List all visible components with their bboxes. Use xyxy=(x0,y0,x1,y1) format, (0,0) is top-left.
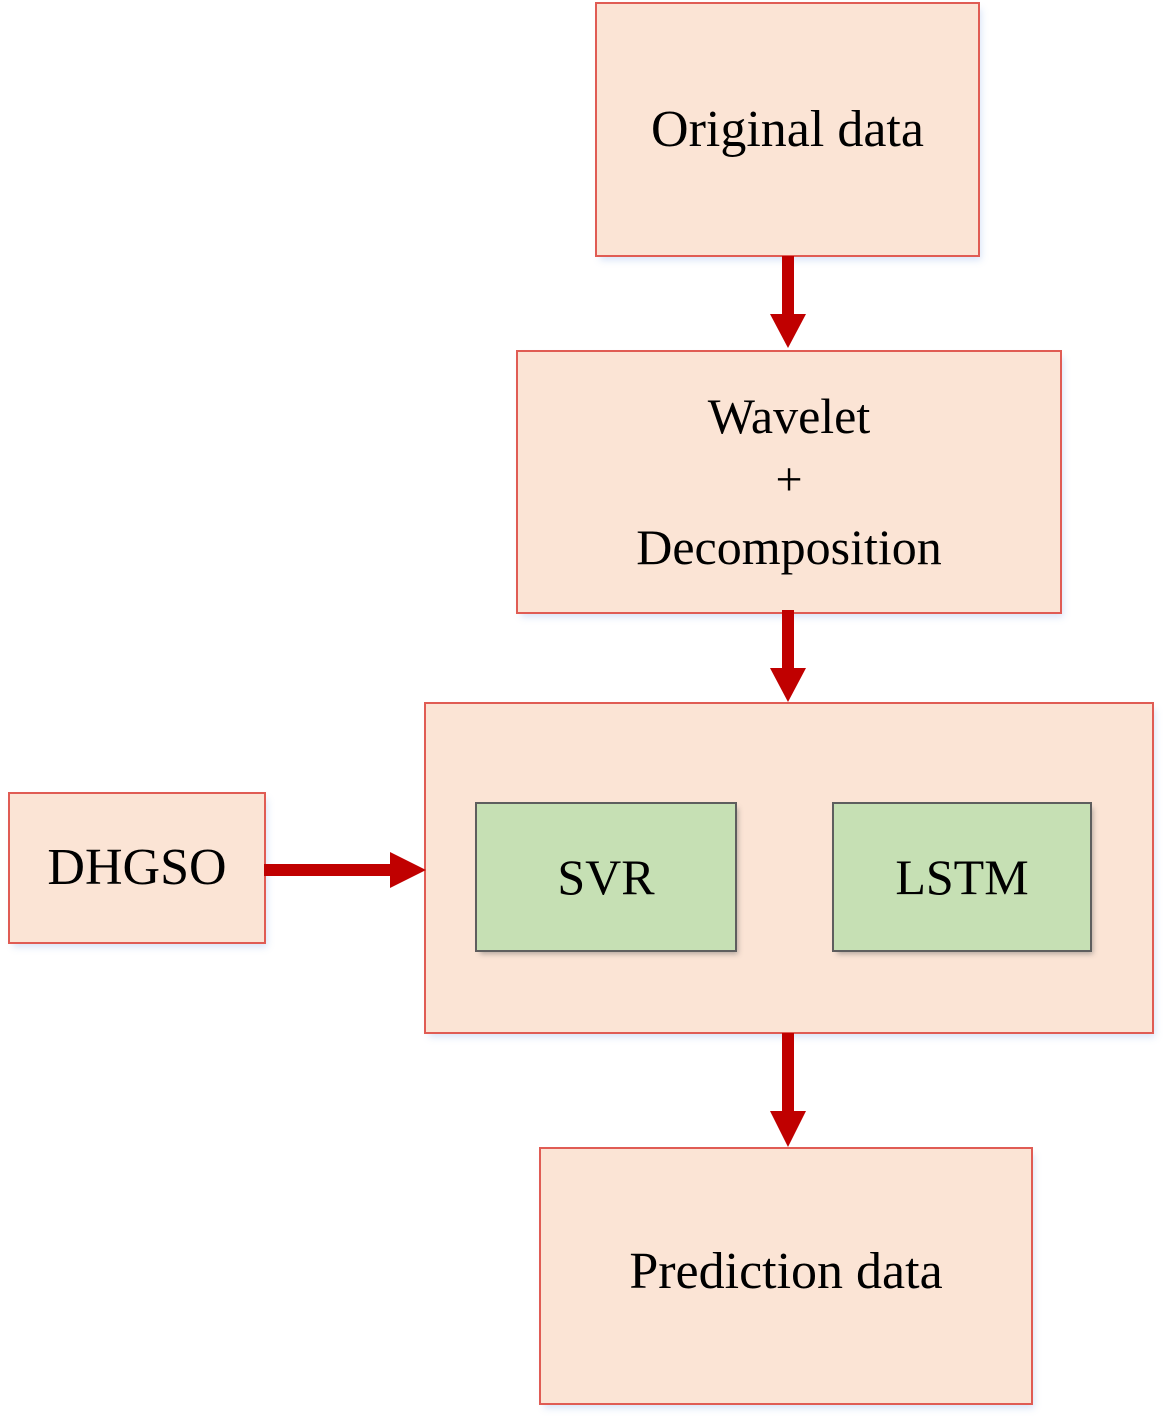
arrow-dhgso-to-models xyxy=(264,848,430,892)
arrow-models-to-prediction xyxy=(762,1033,814,1151)
node-wavelet-label-line1: Wavelet xyxy=(708,387,871,446)
node-prediction-data-label: Prediction data xyxy=(629,1241,942,1302)
node-lstm-label: LSTM xyxy=(895,848,1028,907)
node-dhgso[interactable]: DHGSO xyxy=(8,792,266,944)
flowchart-canvas: Original data Wavelet + Decomposition SV… xyxy=(0,0,1166,1423)
node-wavelet-label-line3: Decomposition xyxy=(636,518,942,577)
node-original-data-label: Original data xyxy=(651,99,924,160)
node-wavelet-decomposition[interactable]: Wavelet + Decomposition xyxy=(516,350,1062,614)
node-lstm[interactable]: LSTM xyxy=(832,802,1092,952)
node-dhgso-label: DHGSO xyxy=(47,837,226,898)
node-original-data[interactable]: Original data xyxy=(595,2,980,257)
node-svr-label: SVR xyxy=(557,848,654,907)
node-wavelet-label-plus: + xyxy=(775,452,802,509)
arrow-wavelet-to-models xyxy=(762,610,814,706)
node-prediction-data[interactable]: Prediction data xyxy=(539,1147,1033,1405)
arrow-original-to-wavelet xyxy=(762,256,814,352)
node-svr[interactable]: SVR xyxy=(475,802,737,952)
